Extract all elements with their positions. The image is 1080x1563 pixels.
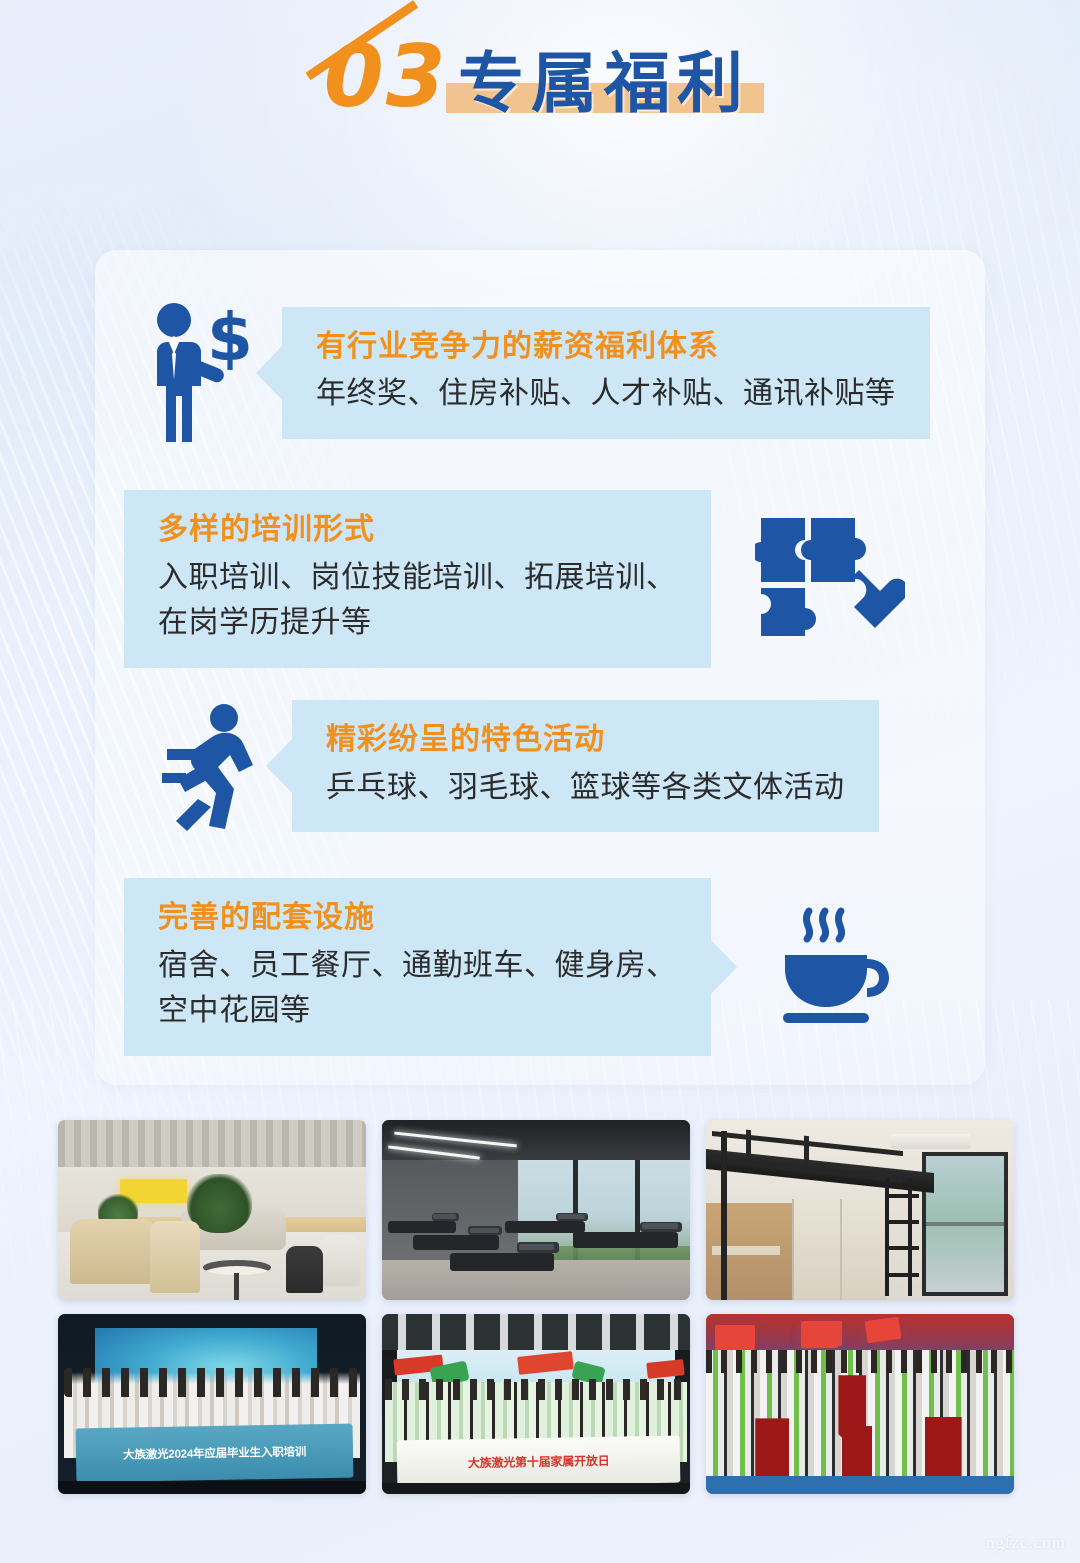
section-number: 03 bbox=[324, 34, 448, 120]
benefit-panel-salary: 有行业竞争力的薪资福利体系 年终奖、住房补贴、人才补贴、通讯补贴等 bbox=[282, 307, 930, 439]
photo-crowd-heads bbox=[706, 1350, 1014, 1373]
photo-wardrobe bbox=[792, 1199, 886, 1300]
benefit-heading: 有行业竞争力的薪资福利体系 bbox=[316, 327, 896, 368]
photo-ladder bbox=[885, 1178, 919, 1297]
photo-family-open-day: 大族激光第十届家属开放日 bbox=[382, 1314, 690, 1494]
photo-ceiling bbox=[382, 1120, 690, 1160]
photo-dormitory bbox=[706, 1120, 1014, 1300]
benefit-heading: 多样的培训形式 bbox=[158, 510, 677, 551]
photo-chair bbox=[286, 1246, 323, 1293]
photo-graduate-training: 大族激光2024年应届毕业生入职培训 bbox=[58, 1314, 366, 1494]
benefit-row-salary: $ 有行业竞争力的薪资福利体系 年终奖、住房补贴、人才补贴、通讯补贴等 bbox=[138, 298, 930, 448]
benefit-heading: 完善的配套设施 bbox=[158, 898, 677, 939]
benefit-body-line: 年终奖、住房补贴、人才补贴、通讯补贴等 bbox=[316, 371, 896, 417]
photo-prize-card bbox=[801, 1325, 838, 1348]
photo-crowd-heads bbox=[385, 1379, 687, 1401]
photo-air-conditioner bbox=[891, 1134, 971, 1148]
photo-cafe-lounge bbox=[58, 1120, 366, 1300]
benefit-panel-training: 多样的培训形式 入职培训、岗位技能培训、拓展培训、 在岗学历提升等 bbox=[124, 490, 711, 668]
photo-prize-card bbox=[715, 1325, 755, 1350]
photo-table bbox=[203, 1260, 271, 1274]
svg-text:$: $ bbox=[207, 299, 253, 376]
photo-stage-floor bbox=[382, 1483, 690, 1494]
photo-treadmill bbox=[505, 1221, 585, 1234]
photo-light-truss bbox=[382, 1314, 690, 1350]
photo-sofa bbox=[70, 1219, 156, 1284]
puzzle-pieces-icon bbox=[755, 514, 905, 644]
businessman-dollar-icon: $ bbox=[138, 298, 258, 448]
page-title: 专属福利 bbox=[452, 49, 756, 119]
poster-header: 03 专属福利 bbox=[0, 34, 1080, 126]
photo-banner-text: 大族激光2024年应届毕业生入职培训 bbox=[123, 1443, 306, 1462]
photo-chair bbox=[323, 1235, 360, 1285]
benefit-row-activity: 精彩纷呈的特色活动 乒乓球、羽毛球、篮球等各类文体活动 bbox=[160, 700, 879, 832]
photo-sofa bbox=[150, 1221, 199, 1293]
photo-gallery: 大族激光2024年应届毕业生入职培训 大族激光第十届家属开放日 bbox=[58, 1120, 1026, 1494]
benefit-body-line: 入职培训、岗位技能培训、拓展培训、 bbox=[158, 555, 677, 601]
benefit-body-line: 宿舍、员工餐厅、通勤班车、健身房、 bbox=[158, 943, 677, 989]
benefit-panel-activity: 精彩纷呈的特色活动 乒乓球、羽毛球、篮球等各类文体活动 bbox=[292, 700, 879, 832]
photo-court-floor bbox=[706, 1476, 1014, 1494]
photo-treadmill bbox=[413, 1235, 499, 1249]
benefit-panel-facility: 完善的配套设施 宿舍、员工餐厅、通勤班车、健身房、 空中花园等 bbox=[124, 878, 711, 1056]
photo-treadmill bbox=[388, 1221, 456, 1234]
benefit-row-training: 多样的培训形式 入职培训、岗位技能培训、拓展培训、 在岗学历提升等 bbox=[124, 490, 905, 668]
running-person-icon bbox=[160, 701, 270, 831]
photo-sports-team bbox=[706, 1314, 1014, 1494]
photo-bed-post bbox=[721, 1131, 727, 1300]
photo-banner: 大族激光第十届家属开放日 bbox=[397, 1436, 681, 1488]
photo-stage-floor bbox=[58, 1481, 366, 1494]
benefit-body-line: 乒乓球、羽毛球、篮球等各类文体活动 bbox=[326, 765, 845, 811]
photo-crowd-heads bbox=[64, 1368, 360, 1397]
photo-treadmill bbox=[573, 1232, 678, 1248]
photo-banner: 大族激光2024年应届毕业生入职培训 bbox=[76, 1423, 354, 1482]
photo-gym-treadmills bbox=[382, 1120, 690, 1300]
benefit-body-line: 空中花园等 bbox=[158, 988, 677, 1034]
photo-banner-text: 大族激光第十届家属开放日 bbox=[468, 1452, 610, 1471]
section-title-wrap: 专属福利 bbox=[452, 49, 756, 119]
coffee-cup-icon bbox=[755, 897, 895, 1037]
photo-treadmill bbox=[450, 1253, 555, 1271]
benefit-body-line: 在岗学历提升等 bbox=[158, 600, 677, 646]
photo-ceiling bbox=[58, 1120, 366, 1167]
photo-balcony-door bbox=[922, 1152, 1008, 1296]
benefit-row-facility: 完善的配套设施 宿舍、员工餐厅、通勤班车、健身房、 空中花园等 bbox=[124, 878, 895, 1056]
watermark: ngfzc.com bbox=[986, 1533, 1066, 1553]
benefits-poster: 03 专属福利 $ 有行业竞争力的薪资福利体系 年终奖、住房补贴、人才补贴、通讯… bbox=[0, 0, 1080, 1563]
photo-stage-tag bbox=[646, 1359, 684, 1379]
benefit-heading: 精彩纷呈的特色活动 bbox=[326, 720, 845, 761]
